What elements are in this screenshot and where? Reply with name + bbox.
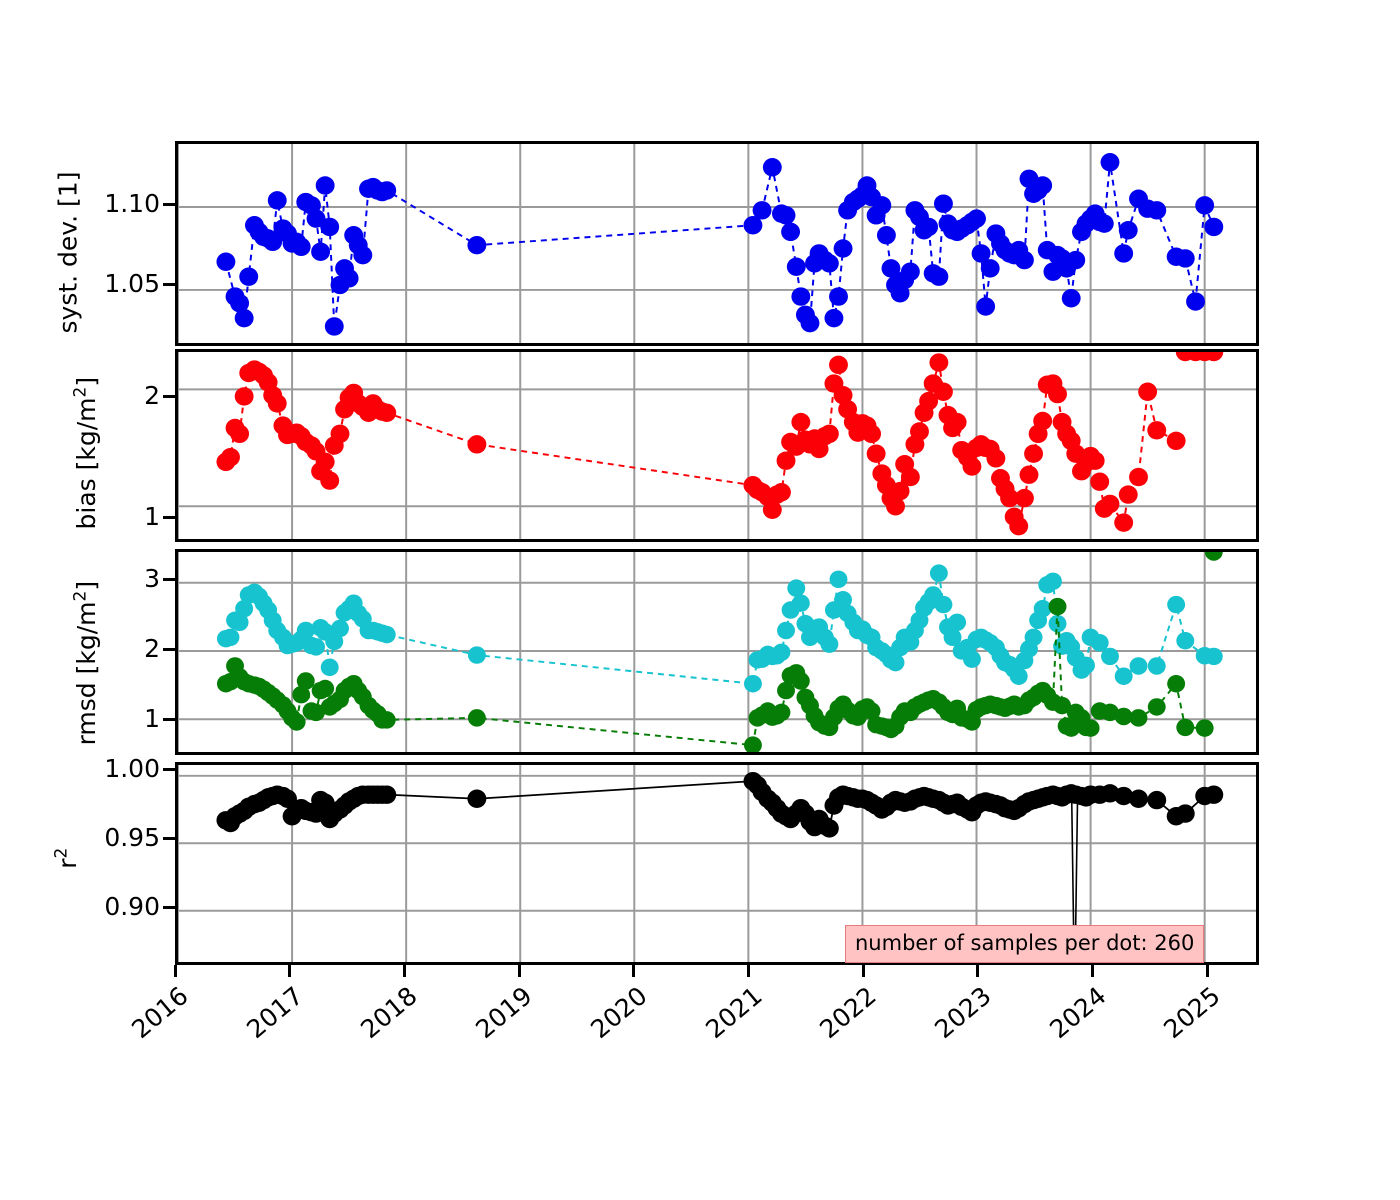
data-point [325,317,344,335]
data-point [1009,517,1028,535]
data-point [1086,451,1105,469]
data-point [1130,709,1148,726]
data-point [1148,698,1166,715]
data-point [963,457,982,475]
xtick-label-2017: 2017 [235,981,309,1049]
data-point [1048,385,1067,403]
data-point [1130,657,1148,674]
panel-bias [175,349,1259,542]
data-point [744,736,762,752]
data-point [948,614,966,631]
data-point [331,620,349,637]
data-point [1010,667,1028,684]
data-point [321,659,339,676]
data-point [820,425,839,443]
data-point [948,413,967,431]
data-point [316,680,334,697]
data-point [268,394,287,412]
data-point [1114,513,1133,531]
data-point [787,579,805,596]
data-point [976,297,995,315]
data-point [1167,675,1185,692]
data-point [1129,790,1148,808]
tickmark-r2-0-95 [163,837,175,840]
data-point [792,594,810,611]
data-point [1049,598,1067,615]
data-point [777,682,795,699]
data-point [1186,292,1205,310]
tickmark-r2-1-00 [163,768,175,771]
data-point [1119,485,1138,503]
data-point [235,387,254,405]
panel-syst-dev [175,141,1259,346]
data-point [929,353,948,371]
data-point [1033,412,1052,430]
rmsd-plot-area [178,552,1256,752]
data-point [1176,804,1195,822]
xtick-label-2016: 2016 [120,981,194,1049]
data-point [340,269,359,287]
data-point [230,425,249,443]
data-point [320,471,339,489]
data-point [353,246,372,264]
data-point [877,226,896,244]
ytick-r2-0-95: 0.95 [60,823,160,852]
data-point [910,422,929,440]
data-point [763,158,782,176]
data-point [222,629,240,646]
xtick-label-2018: 2018 [349,981,423,1049]
data-point [377,181,396,199]
ytick-r2-1-00: 1.00 [60,754,160,783]
data-point [862,425,881,443]
xtick-mark-2020 [632,965,635,977]
data-point [1147,421,1166,439]
xtick-label-2021: 2021 [693,981,767,1049]
data-point [467,790,486,808]
data-point [986,449,1005,467]
data-point [872,196,891,214]
data-series [216,352,1223,535]
data-point [963,650,981,667]
data-point [1066,251,1085,269]
data-point [830,571,848,588]
series-line [226,363,1176,527]
tickmark-rmsd-3 [163,578,175,581]
data-point [316,176,335,194]
tickmark-rmsd-1 [163,718,175,721]
ytick-rmsd-2: 2 [60,634,160,663]
xtick-label-2023: 2023 [923,981,997,1049]
bias-plot-area [178,352,1256,539]
data-point [377,404,396,422]
data-point [829,356,848,374]
data-point [292,238,311,256]
data-point [311,243,330,261]
data-point [787,257,806,275]
data-point [820,254,839,272]
data-point [1148,657,1166,674]
data-point [297,672,315,689]
y-axis-label-rmsd: rmsd [kg/m2] [71,563,101,763]
data-point [1114,244,1133,262]
data-point [824,309,843,327]
data-point [1129,468,1148,486]
data-point [934,383,953,401]
xtick-mark-2017 [288,965,291,977]
data-point [1176,719,1194,736]
data-point [773,704,791,721]
y-axis-label-syst-dev: syst. dev. [1] [54,153,83,353]
data-point [331,425,350,443]
data-point [378,626,396,643]
data-point [268,191,287,209]
xtick-mark-2016 [174,965,177,977]
data-point [1195,196,1214,214]
data-point [1062,289,1081,307]
data-point [1147,201,1166,219]
xtick-label-2020: 2020 [579,981,653,1049]
xtick-label-2019: 2019 [464,981,538,1049]
data-point [934,596,952,613]
xtick-label-2025: 2025 [1152,981,1226,1049]
data-point [773,644,791,661]
data-point [777,622,795,639]
data-point [1147,791,1166,809]
data-point [791,413,810,431]
data-point [1196,719,1214,736]
data-point [834,239,853,257]
data-point [377,785,396,803]
data-point [320,218,339,236]
data-point [1101,153,1120,171]
ytick-bias-2: 2 [60,381,160,410]
data-point [468,646,486,663]
ytick-r2-0-90: 0.90 [60,892,160,921]
data-point [829,287,848,305]
data-point [307,638,325,655]
data-point [1077,657,1095,674]
data-point [1176,632,1194,649]
ytick-rmsd-3: 3 [60,564,160,593]
data-point [820,635,838,652]
data-point [1176,249,1195,267]
data-point [467,236,486,254]
data-point [929,267,948,285]
data-point [1082,719,1100,736]
data-point [934,194,953,212]
data-point [901,262,920,280]
data-point [901,468,920,486]
data-point [1204,785,1223,803]
data-point [216,253,235,271]
data-point [239,267,258,285]
data-point [753,201,772,219]
ytick-syst-1-10: 1.10 [60,189,160,218]
data-point [235,309,254,327]
xtick-mark-2022 [862,965,865,977]
data-point [772,483,791,501]
xtick-mark-2025 [1206,965,1209,977]
data-point [1101,648,1119,665]
ytick-bias-1: 1 [60,502,160,531]
tickmark-r2-0-90 [163,906,175,909]
data-point [867,444,886,462]
tickmark-syst-1-05 [163,283,175,286]
xtick-mark-2023 [976,965,979,977]
data-point [801,314,820,332]
xtick-label-2024: 2024 [1038,981,1112,1049]
data-point [1167,432,1186,450]
tickmark-syst-1-10 [163,203,175,206]
data-point [1205,552,1223,561]
data-point [1015,489,1034,507]
ytick-rmsd-1: 1 [60,704,160,733]
data-point [467,435,486,453]
data-point [777,206,796,224]
data-point [1095,214,1114,232]
panel-rmsd [175,549,1259,755]
data-point [1205,648,1223,665]
data-point [288,713,306,730]
data-point [1090,473,1109,491]
data-point [1138,383,1157,401]
data-point [1101,495,1120,513]
data-point [1204,218,1223,236]
data-point [820,819,839,837]
data-point [919,218,938,236]
data-point [744,675,762,692]
data-point [981,259,1000,277]
data-point [1025,629,1043,646]
data-point [1119,221,1138,239]
data-point [378,711,396,728]
xtick-mark-2018 [403,965,406,977]
xtick-mark-2019 [518,965,521,977]
data-point [930,564,948,581]
data-point [791,287,810,305]
data-point [1024,444,1043,462]
data-point [297,622,315,639]
data-point [468,709,486,726]
data-point [316,453,335,471]
tickmark-bias-2 [163,395,175,398]
data-point [221,448,240,466]
data-point [1033,176,1052,194]
xtick-mark-2024 [1091,965,1094,977]
tickmark-rmsd-2 [163,648,175,651]
data-point [887,654,905,671]
data-series [216,153,1223,336]
tickmark-bias-1 [163,516,175,519]
data-point [1115,667,1133,684]
data-point [792,672,810,689]
ytick-syst-1-05: 1.05 [60,269,160,298]
samples-per-dot-annotation: number of samples per dot: 260 [845,925,1204,963]
xtick-label-2022: 2022 [808,981,882,1049]
xtick-mark-2021 [747,965,750,977]
data-point [1015,251,1034,269]
data-point [967,209,986,227]
syst-dev-plot-area [178,144,1256,343]
data-point [1167,596,1185,613]
data-point [781,223,800,241]
data-point [1044,573,1062,590]
data-point [1020,466,1039,484]
